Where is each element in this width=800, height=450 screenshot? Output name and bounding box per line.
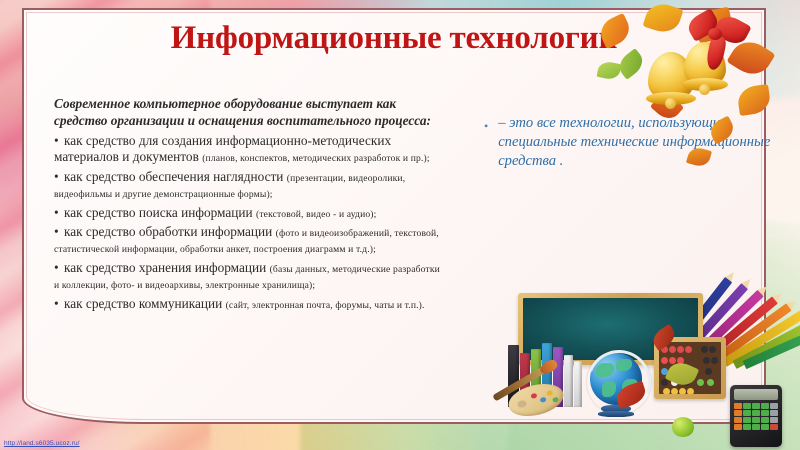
calculator-key	[734, 410, 742, 416]
bullet-marker: •	[54, 224, 59, 239]
palette-paint-dot	[540, 397, 547, 403]
bullet-marker: •	[54, 133, 59, 148]
palette-thumb-hole	[517, 400, 527, 409]
abacus-bead	[697, 379, 704, 386]
abacus-bead	[679, 388, 686, 394]
calculator-key	[752, 424, 760, 430]
calculator-key	[743, 403, 751, 409]
abacus-bead	[711, 357, 718, 364]
abacus-bead	[661, 357, 668, 364]
book-icon	[564, 355, 573, 407]
bullet-detail-text: (сайт, электронная почта, форумы, чаты и…	[226, 300, 425, 311]
green-leaf-icon	[596, 60, 621, 81]
bullet-marker: •	[54, 169, 59, 184]
calculator-key	[770, 424, 778, 430]
palette-paint-dot	[552, 397, 559, 403]
abacus-bead	[671, 388, 678, 394]
list-item: • как средство хранения информации (базы…	[54, 260, 446, 293]
palette-paint-dot	[546, 390, 553, 396]
calculator-key	[761, 410, 769, 416]
school-bell-clapper	[665, 98, 676, 109]
calculator-key	[743, 417, 751, 423]
calculator-key	[734, 424, 742, 430]
school-bell-clapper	[699, 84, 710, 95]
bullet-main-text: как средство обеспечения наглядности	[64, 169, 283, 184]
lead-paragraph: Современное компьютерное оборудование вы…	[54, 95, 446, 130]
bullet-main-text: как средство коммуникации	[64, 296, 222, 311]
presentation-slide: Информационные технологии Современное ко…	[0, 0, 800, 450]
list-item: • как средство обработки информации (фот…	[54, 224, 446, 257]
left-text-column: Современное компьютерное оборудование вы…	[54, 95, 446, 312]
calculator-key	[734, 403, 742, 409]
maple-leaf-icon	[686, 145, 712, 168]
calculator-key	[770, 417, 778, 423]
calculator-display	[734, 389, 778, 400]
autumn-bells-decoration	[592, 0, 782, 185]
calculator-key	[770, 403, 778, 409]
calculator-key	[752, 410, 760, 416]
bullet-detail-text: (текстовой, видео - и аудио);	[256, 209, 377, 220]
abacus-bead	[677, 346, 684, 353]
calculator-keypad	[734, 403, 778, 430]
abacus-bead	[707, 379, 714, 386]
maple-leaf-icon	[643, 0, 684, 37]
abacus-row	[659, 357, 721, 365]
bullet-detail-text: (планов, конспектов, методических разраб…	[202, 153, 430, 164]
bullet-main-text: как средство хранения информации	[64, 260, 266, 275]
abacus-bead	[703, 357, 710, 364]
maple-leaf-icon	[596, 13, 634, 49]
calculator-key	[752, 417, 760, 423]
abacus-row	[659, 346, 721, 354]
abacus-bead	[687, 388, 694, 394]
calculator-key	[770, 410, 778, 416]
abacus-bead	[701, 346, 708, 353]
calculator-key	[734, 417, 742, 423]
bullet-marker: •	[484, 114, 488, 171]
maple-leaf-icon	[707, 116, 738, 145]
calculator-key	[761, 403, 769, 409]
abacus-bead	[663, 388, 670, 394]
maple-leaf-icon	[736, 84, 772, 116]
palette-paint-dot	[530, 393, 537, 399]
abacus-bead	[709, 346, 716, 353]
bullet-marker: •	[54, 205, 59, 220]
school-supplies-illustration	[430, 245, 800, 450]
list-item: • как средство обеспечения наглядности (…	[54, 169, 446, 202]
calculator-icon	[730, 385, 782, 447]
calculator-key	[761, 424, 769, 430]
globe-base	[598, 411, 634, 417]
abacus-bead	[661, 379, 668, 386]
apple-icon	[672, 417, 694, 437]
calculator-key	[743, 410, 751, 416]
calculator-key	[752, 403, 760, 409]
bullet-main-text: как средство обработки информации	[64, 224, 272, 239]
bullet-main-text: как средство поиска информации	[64, 205, 253, 220]
abacus-bead	[705, 368, 712, 375]
list-item: • как средство коммуникации (сайт, элект…	[54, 296, 446, 312]
list-item: • как средство поиска информации (тексто…	[54, 205, 446, 221]
bullet-marker: •	[54, 296, 59, 311]
red-ribbon-knot	[708, 28, 722, 40]
source-url-link[interactable]: http://land.s6035.ucoz.ru/	[4, 440, 80, 447]
abacus-bead	[669, 346, 676, 353]
book-icon	[574, 361, 582, 407]
abacus-bead	[685, 346, 692, 353]
calculator-key	[761, 417, 769, 423]
abacus-row	[659, 388, 721, 394]
calculator-key	[743, 424, 751, 430]
list-item: • как средство для создания информационн…	[54, 133, 446, 166]
bullet-marker: •	[54, 260, 59, 275]
